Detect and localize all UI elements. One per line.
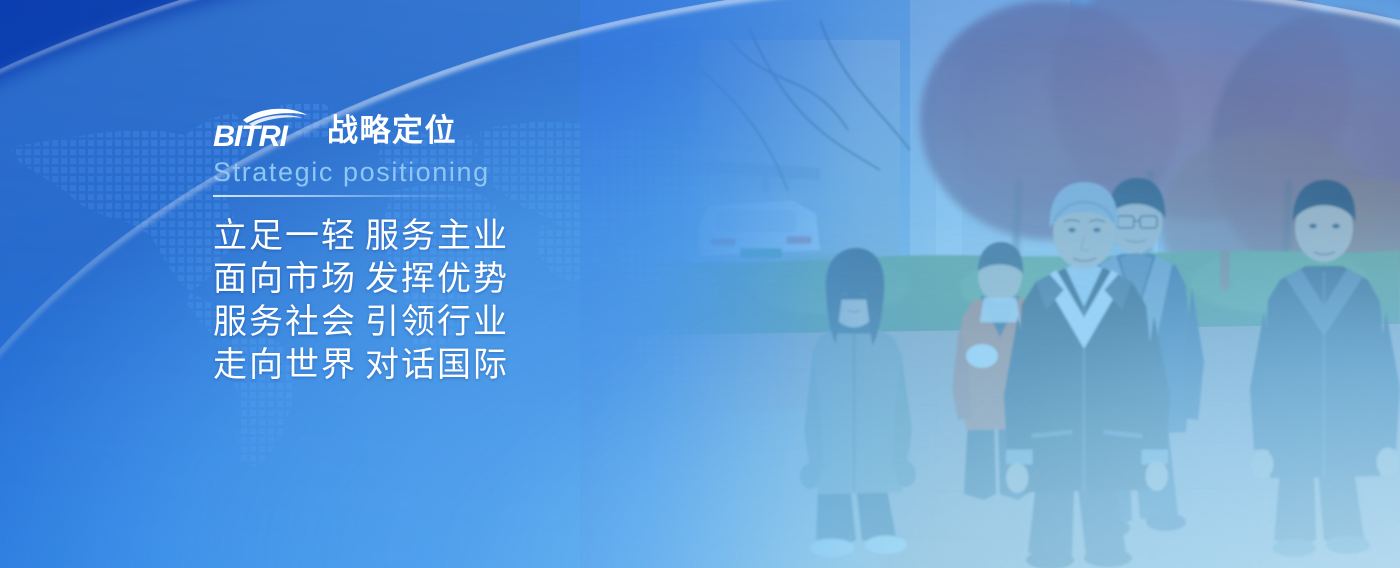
slogan-row: 走向世界 对话国际 bbox=[213, 344, 733, 387]
slogan-list: 立足一轻 服务主业 面向市场 发挥优势 服务社会 引领行业 走向世界 对话国际 bbox=[213, 215, 733, 387]
divider-line bbox=[213, 195, 483, 197]
slogan-right: 发挥优势 bbox=[365, 258, 509, 301]
headline-block: BITRI 战略定位 Strategic positioning 立足一轻 服务… bbox=[213, 104, 733, 387]
slogan-right: 引领行业 bbox=[365, 301, 509, 344]
slogan-left: 面向市场 bbox=[213, 258, 365, 301]
title-english: Strategic positioning bbox=[213, 156, 733, 188]
bitri-logo: BITRI bbox=[213, 104, 313, 150]
slogan-left: 服务社会 bbox=[213, 301, 365, 344]
slogan-row: 服务社会 引领行业 bbox=[213, 301, 733, 344]
title-chinese: 战略定位 bbox=[327, 114, 457, 150]
strategic-positioning-banner: BITRI 战略定位 Strategic positioning 立足一轻 服务… bbox=[0, 0, 1400, 568]
logo-row: BITRI 战略定位 bbox=[213, 104, 733, 150]
slogan-left: 走向世界 bbox=[213, 344, 365, 387]
svg-text:BITRI: BITRI bbox=[213, 120, 289, 150]
slogan-row: 立足一轻 服务主业 bbox=[213, 215, 733, 258]
slogan-row: 面向市场 发挥优势 bbox=[213, 258, 733, 301]
slogan-left: 立足一轻 bbox=[213, 215, 365, 258]
slogan-right: 对话国际 bbox=[365, 344, 509, 387]
slogan-right: 服务主业 bbox=[365, 215, 509, 258]
